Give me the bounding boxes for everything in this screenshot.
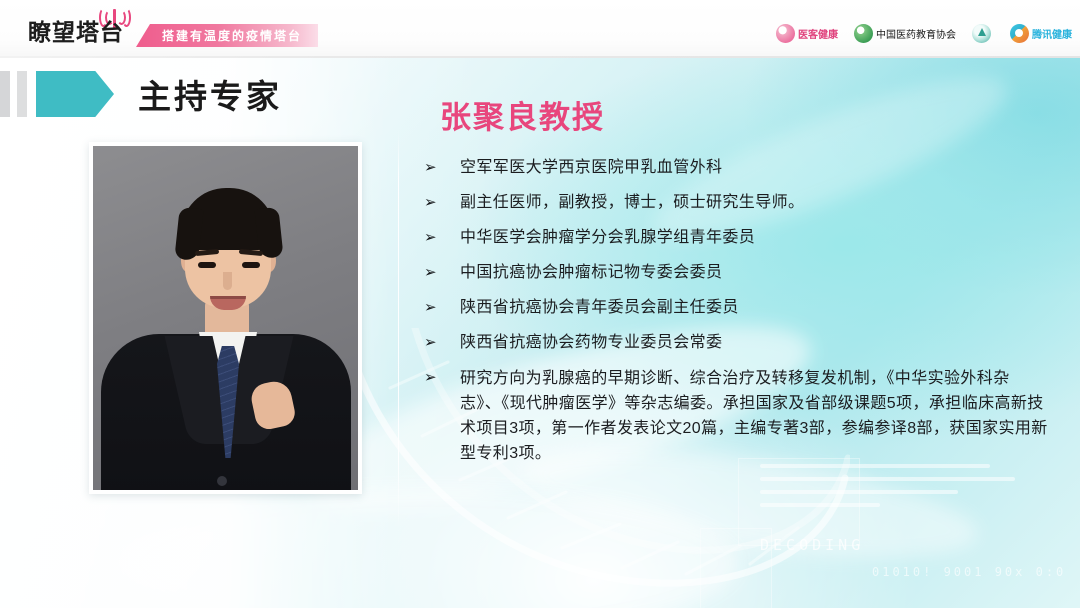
partner-logo-3: [972, 24, 994, 43]
list-item-label: 中华医学会肿瘤学分会乳腺学组青年委员: [460, 226, 1050, 249]
partner-logo-1: 医客健康: [776, 24, 838, 43]
arrow-bullet-icon: ➢: [424, 296, 460, 319]
mint-mountain-circle-logo-icon: [972, 24, 991, 43]
expert-photo: [93, 146, 358, 490]
list-item: ➢ 副主任医师，副教授，博士，硕士研究生导师。: [424, 191, 1050, 214]
list-item: ➢ 研究方向为乳腺癌的早期诊断、综合治疗及转移复发机制，《中华实验外科杂志》、《…: [424, 366, 1050, 466]
tech-frame-decoration: [700, 528, 772, 608]
header-divider: [0, 56, 1080, 58]
chevron-accent-icon: [36, 71, 114, 117]
list-item-label: 陕西省抗癌协会青年委员会副主任委员: [460, 296, 1050, 319]
background-swoosh: [120, 488, 740, 608]
arrow-bullet-icon: ➢: [424, 156, 460, 179]
expert-credentials-list: ➢ 空军军医大学西京医院甲乳血管外科 ➢ 副主任医师，副教授，博士，硕士研究生导…: [424, 156, 1050, 478]
list-item: ➢ 中国抗癌协会肿瘤标记物专委会委员: [424, 261, 1050, 284]
accent-bar-2: [17, 71, 27, 117]
expert-photo-frame: [89, 142, 362, 494]
list-item: ➢ 中华医学会肿瘤学分会乳腺学组青年委员: [424, 226, 1050, 249]
medical-circle-logo-pink-icon: [776, 24, 795, 43]
association-circle-logo-green-icon: [854, 24, 873, 43]
list-item-label: 中国抗癌协会肿瘤标记物专委会委员: [460, 261, 1050, 284]
partner-label-4: 腾讯健康: [1032, 26, 1072, 41]
expert-name: 张聚良教授: [440, 92, 605, 137]
binary-label: 01010! 9001 90x 0:0: [872, 565, 1066, 579]
slogan-ribbon: 搭建有温度的疫情塔台: [136, 24, 318, 47]
arrow-bullet-icon: ➢: [424, 261, 460, 284]
partner-logo-2: 中国医药教育协会: [854, 24, 956, 43]
section-heading: 主持专家: [0, 68, 282, 120]
list-item-label: 副主任医师，副教授，博士，硕士研究生导师。: [460, 191, 1050, 214]
partner-logo-group: 医客健康 中国医药教育协会 腾讯健康: [776, 18, 1072, 48]
list-item-label: 研究方向为乳腺癌的早期诊断、综合治疗及转移复发机制，《中华实验外科杂志》、《现代…: [460, 366, 1050, 466]
arrow-bullet-icon: ➢: [424, 191, 460, 214]
tencent-health-logo-icon: [1010, 24, 1029, 43]
page-title: 主持专家: [138, 70, 282, 118]
decoding-label: DECODING: [760, 536, 864, 554]
arrow-bullet-icon: ➢: [424, 366, 460, 389]
partner-label-1: 医客健康: [798, 26, 838, 41]
partner-label-2: 中国医药教育协会: [876, 26, 956, 41]
accent-bar-1: [0, 71, 10, 117]
list-item-label: 空军军医大学西京医院甲乳血管外科: [460, 156, 1050, 179]
list-item: ➢ 空军军医大学西京医院甲乳血管外科: [424, 156, 1050, 179]
list-item-label: 陕西省抗癌协会药物专业委员会常委: [460, 331, 1050, 354]
arrow-bullet-icon: ➢: [424, 331, 460, 354]
slide-root: 瞭望塔台 搭建有温度的疫情塔台 医客健康 中国医药教育协会 腾讯健康: [0, 0, 1080, 608]
partner-logo-4: 腾讯健康: [1010, 24, 1072, 43]
brand-name: 瞭望塔台: [28, 18, 124, 46]
arrow-bullet-icon: ➢: [424, 226, 460, 249]
vertical-divider: [398, 130, 399, 530]
list-item: ➢ 陕西省抗癌协会药物专业委员会常委: [424, 331, 1050, 354]
list-item: ➢ 陕西省抗癌协会青年委员会副主任委员: [424, 296, 1050, 319]
header-bar: 瞭望塔台 搭建有温度的疫情塔台 医客健康 中国医药教育协会 腾讯健康: [0, 0, 1080, 58]
